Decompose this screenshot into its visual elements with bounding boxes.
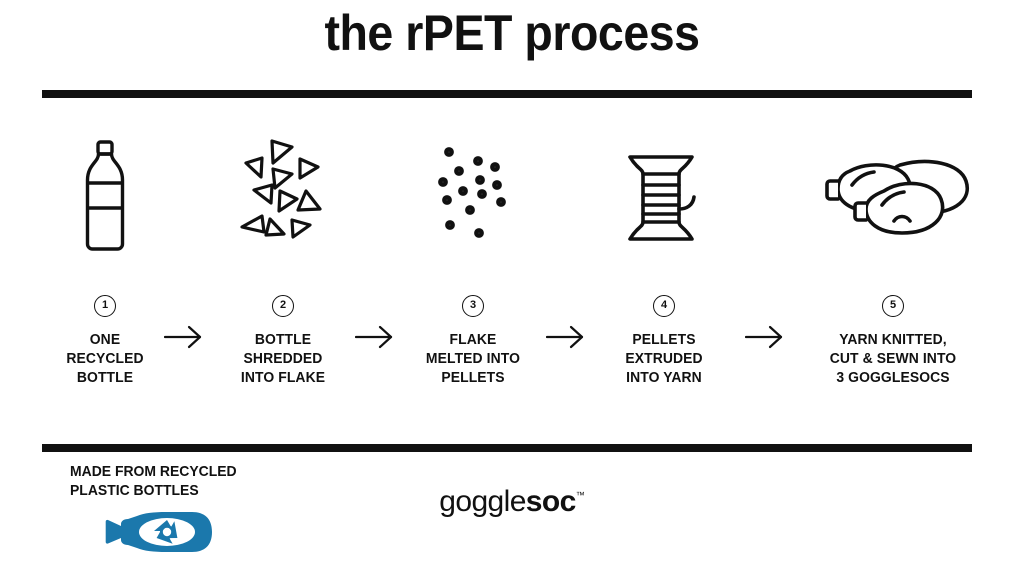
- arrow-right-icon: [745, 324, 785, 350]
- step-3-number: 3: [462, 295, 484, 317]
- arrow-right-icon: [164, 324, 204, 350]
- step-2-label: BOTTLE SHREDDED INTO FLAKE: [192, 331, 374, 388]
- step-4-artwork: [569, 128, 759, 268]
- step-2-number: 2: [272, 295, 294, 317]
- step-5-number: 5: [882, 295, 904, 317]
- step-5-label: YARN KNITTED, CUT & SEWN INTO 3 GOGGLESO…: [783, 331, 1004, 388]
- arrow-right-icon: [546, 324, 586, 350]
- arrow-right-3: [546, 324, 586, 350]
- process-step-2: 2 BOTTLE SHREDDED INTO FLAKE: [188, 128, 378, 408]
- step-2-artwork: [188, 128, 378, 268]
- gogglesocs-icon: [808, 143, 978, 253]
- brand-logo: gogglesoc™: [0, 478, 1024, 519]
- step-1-number: 1: [94, 295, 116, 317]
- process-step-1: 1 ONE RECYCLED BOTTLE: [10, 128, 200, 408]
- arrow-right-2: [355, 324, 395, 350]
- arrow-right-4: [745, 324, 785, 350]
- plastic-flakes-icon: [228, 133, 338, 263]
- process-step-3: 3 FLAKE MELTED INTO PELLETS: [378, 128, 568, 408]
- divider-rule-bottom: [42, 444, 972, 452]
- pellets-icon: [423, 138, 523, 258]
- brand-logo-light: goggle: [439, 485, 526, 518]
- page-title: the rPET process: [36, 4, 988, 62]
- brand-logo-bold: soc: [526, 485, 576, 518]
- step-4-number: 4: [653, 295, 675, 317]
- yarn-spool-icon: [609, 143, 719, 253]
- process-step-5: 5 YARN KNITTED, CUT & SEWN INTO 3 GOGGLE…: [778, 128, 1008, 408]
- plastic-bottle-icon: [75, 138, 135, 258]
- process-step-4: 4 PELLETS EXTRUDED INTO YARN: [569, 128, 759, 408]
- brand-trademark: ™: [576, 490, 585, 500]
- step-5-artwork: [778, 128, 1008, 268]
- process-steps: 1 ONE RECYCLED BOTTLE: [42, 128, 972, 408]
- step-3-artwork: [378, 128, 568, 268]
- arrow-right-1: [164, 324, 204, 350]
- infographic-page: the rPET process 1 ONE RECYCLED BOTTLE: [0, 0, 1024, 576]
- divider-rule-top: [42, 90, 972, 98]
- step-4-label: PELLETS EXTRUDED INTO YARN: [573, 331, 755, 388]
- step-3-label: FLAKE MELTED INTO PELLETS: [382, 331, 564, 388]
- arrow-right-icon: [355, 324, 395, 350]
- step-1-artwork: [10, 128, 200, 268]
